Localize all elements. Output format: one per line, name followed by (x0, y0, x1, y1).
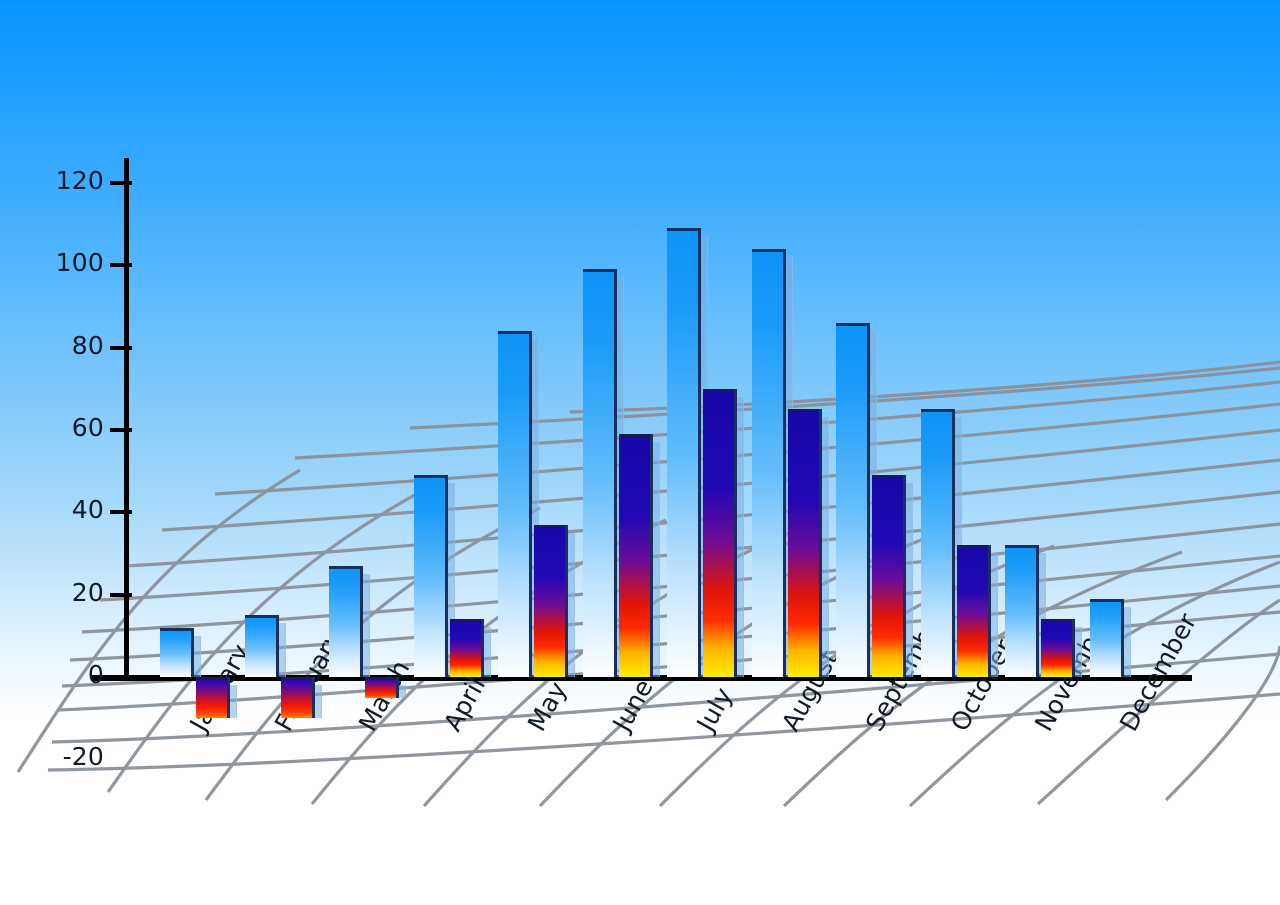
y-tick-mark (110, 675, 132, 679)
y-tick-mark (110, 510, 132, 514)
bar-march-series2 (365, 677, 417, 698)
bar-top-edge (196, 677, 227, 680)
y-tick-mark (110, 593, 132, 597)
bar-face (281, 677, 315, 718)
y-tick-label: 120 (0, 166, 104, 195)
bar-face (752, 249, 786, 677)
bar-top-edge (788, 409, 819, 412)
bar-top-edge (667, 228, 698, 231)
bar-top-edge (619, 434, 650, 437)
bar-face (872, 475, 906, 677)
bar-face (788, 409, 822, 677)
bar-face (703, 389, 737, 677)
bar-top-edge (836, 323, 867, 326)
bar-top-edge (281, 677, 312, 680)
chart-canvas: 120100806040200-20 JanuaryFebruaryMarchA… (0, 0, 1280, 905)
bar-top-edge (534, 525, 565, 528)
bar-may-series2 (534, 525, 586, 677)
bar-face (498, 331, 532, 677)
y-tick-label: -20 (0, 742, 104, 771)
bar-face (667, 228, 701, 677)
y-tick-label: 40 (0, 495, 104, 524)
bar-top-edge (583, 269, 614, 272)
bar-face (414, 475, 448, 677)
y-tick-label: 100 (0, 248, 104, 277)
bar-face (196, 677, 230, 718)
bar-july-series2 (703, 389, 755, 677)
bar-top-edge (1090, 599, 1121, 602)
bar-march-series1 (329, 566, 381, 677)
bar-top-edge (329, 566, 360, 569)
bar-top-edge (957, 545, 988, 548)
y-tick-label: 0 (0, 660, 104, 689)
bar-top-edge (1005, 545, 1036, 548)
bar-top-edge (703, 389, 734, 392)
bar-top-edge (414, 475, 445, 478)
bar-february-series2 (281, 677, 333, 718)
y-tick-mark (110, 181, 132, 185)
y-tick-mark (110, 346, 132, 350)
bar-top-edge (921, 409, 952, 412)
y-tick-mark (110, 263, 132, 267)
bar-top-edge (160, 628, 191, 631)
bar-face (534, 525, 568, 677)
bar-top-edge (872, 475, 903, 478)
bar-top-edge (365, 677, 396, 680)
bar-january-series2 (196, 677, 248, 718)
bar-face (583, 269, 617, 677)
y-axis-line (124, 158, 129, 680)
bar-june-series2 (619, 434, 671, 677)
bar-face (1090, 599, 1124, 677)
y-tick-mark (110, 428, 132, 432)
bar-top-edge (1041, 619, 1072, 622)
bar-december-series1 (1090, 599, 1142, 677)
bar-face (957, 545, 991, 677)
bar-top-edge (752, 249, 783, 252)
bar-face (160, 628, 194, 677)
y-tick-label: 80 (0, 331, 104, 360)
bar-face (921, 409, 955, 677)
bar-face (619, 434, 653, 677)
bar-february-series1 (245, 615, 297, 677)
bar-top-edge (245, 615, 276, 618)
y-tick-label: 60 (0, 413, 104, 442)
bar-face (450, 619, 484, 677)
bar-january-series1 (160, 628, 212, 677)
y-tick-label: 20 (0, 578, 104, 607)
bar-october-series2 (957, 545, 1009, 677)
bar-april-series2 (450, 619, 502, 677)
bar-face (836, 323, 870, 677)
bar-face (365, 677, 399, 698)
bar-face (245, 615, 279, 677)
bar-november-series2 (1041, 619, 1093, 677)
bar-face (1005, 545, 1039, 677)
bar-top-edge (498, 331, 529, 334)
bar-face (329, 566, 363, 677)
bar-top-edge (450, 619, 481, 622)
bar-face (1041, 619, 1075, 677)
bar-august-series2 (788, 409, 840, 677)
bar-september-series2 (872, 475, 924, 677)
